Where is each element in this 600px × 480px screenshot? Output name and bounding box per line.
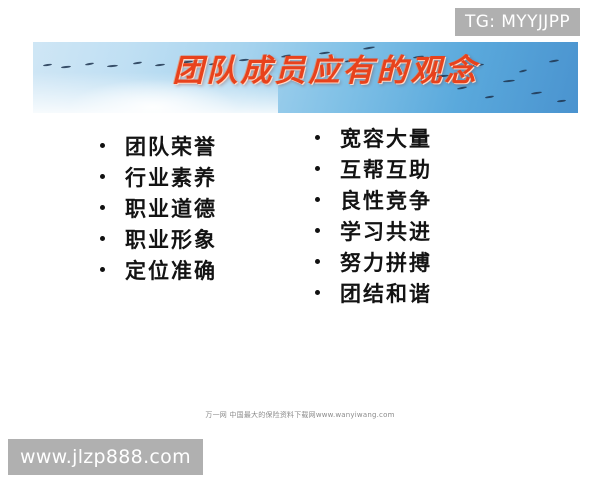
slide-canvas: 团队成员应有的观念 团队荣誉 行业素养 职业道德 职业形象 定位准确	[0, 0, 600, 480]
list-item: 团队荣誉	[100, 136, 310, 167]
list-item: 学习共进	[315, 221, 545, 252]
list-item-label: 学习共进	[340, 221, 432, 242]
list-item-label: 职业形象	[125, 229, 217, 250]
bullet-dot-icon	[315, 135, 320, 140]
bird-icon	[133, 61, 142, 64]
slide-title: 团队成员应有的观念	[153, 56, 498, 87]
list-item: 宽容大量	[315, 128, 545, 159]
bird-icon	[43, 63, 52, 66]
bird-icon	[519, 69, 527, 73]
bullet-dot-icon	[100, 205, 105, 210]
bird-icon	[61, 65, 71, 68]
bird-icon	[557, 99, 566, 102]
footer-source-note: 万一网 中国最大的保险资料下载网www.wanyiwang.com	[0, 410, 600, 420]
list-item: 互帮互助	[315, 159, 545, 190]
watermark-bottom-left: www.jlzp888.com	[8, 439, 203, 475]
list-item-label: 宽容大量	[340, 128, 432, 149]
list-item-label: 定位准确	[125, 260, 217, 281]
list-item-label: 努力拼搏	[340, 252, 432, 273]
bird-icon	[107, 65, 118, 68]
bullet-dot-icon	[315, 166, 320, 171]
title-banner: 团队成员应有的观念	[33, 42, 578, 113]
bird-icon	[85, 62, 94, 66]
bullet-dot-icon	[315, 228, 320, 233]
list-item: 努力拼搏	[315, 252, 545, 283]
bullet-column-right: 宽容大量 互帮互助 良性竞争 学习共进 努力拼搏 团结和谐	[315, 128, 545, 314]
list-item: 团结和谐	[315, 283, 545, 314]
list-item-label: 职业道德	[125, 198, 217, 219]
list-item-label: 良性竞争	[340, 190, 432, 211]
list-item: 职业形象	[100, 229, 310, 260]
bird-icon	[549, 59, 559, 63]
list-item: 定位准确	[100, 260, 310, 291]
bullet-dot-icon	[100, 143, 105, 148]
bullet-dot-icon	[315, 290, 320, 295]
bird-icon	[485, 95, 494, 98]
bullet-dot-icon	[100, 267, 105, 272]
bird-icon	[531, 91, 542, 95]
list-item: 行业素养	[100, 167, 310, 198]
list-item-label: 团结和谐	[340, 283, 432, 304]
bullet-dot-icon	[100, 236, 105, 241]
bullet-dot-icon	[100, 174, 105, 179]
bullet-dot-icon	[315, 259, 320, 264]
list-item-label: 团队荣誉	[125, 136, 217, 157]
list-item-label: 行业素养	[125, 167, 217, 188]
watermark-top-right: TG: MYYJJPP	[455, 8, 580, 36]
list-item: 良性竞争	[315, 190, 545, 221]
bird-icon	[503, 79, 515, 82]
bullet-dot-icon	[315, 197, 320, 202]
list-item-label: 互帮互助	[340, 159, 432, 180]
bullet-column-left: 团队荣誉 行业素养 职业道德 职业形象 定位准确	[100, 136, 310, 291]
list-item: 职业道德	[100, 198, 310, 229]
bird-icon	[363, 46, 375, 50]
